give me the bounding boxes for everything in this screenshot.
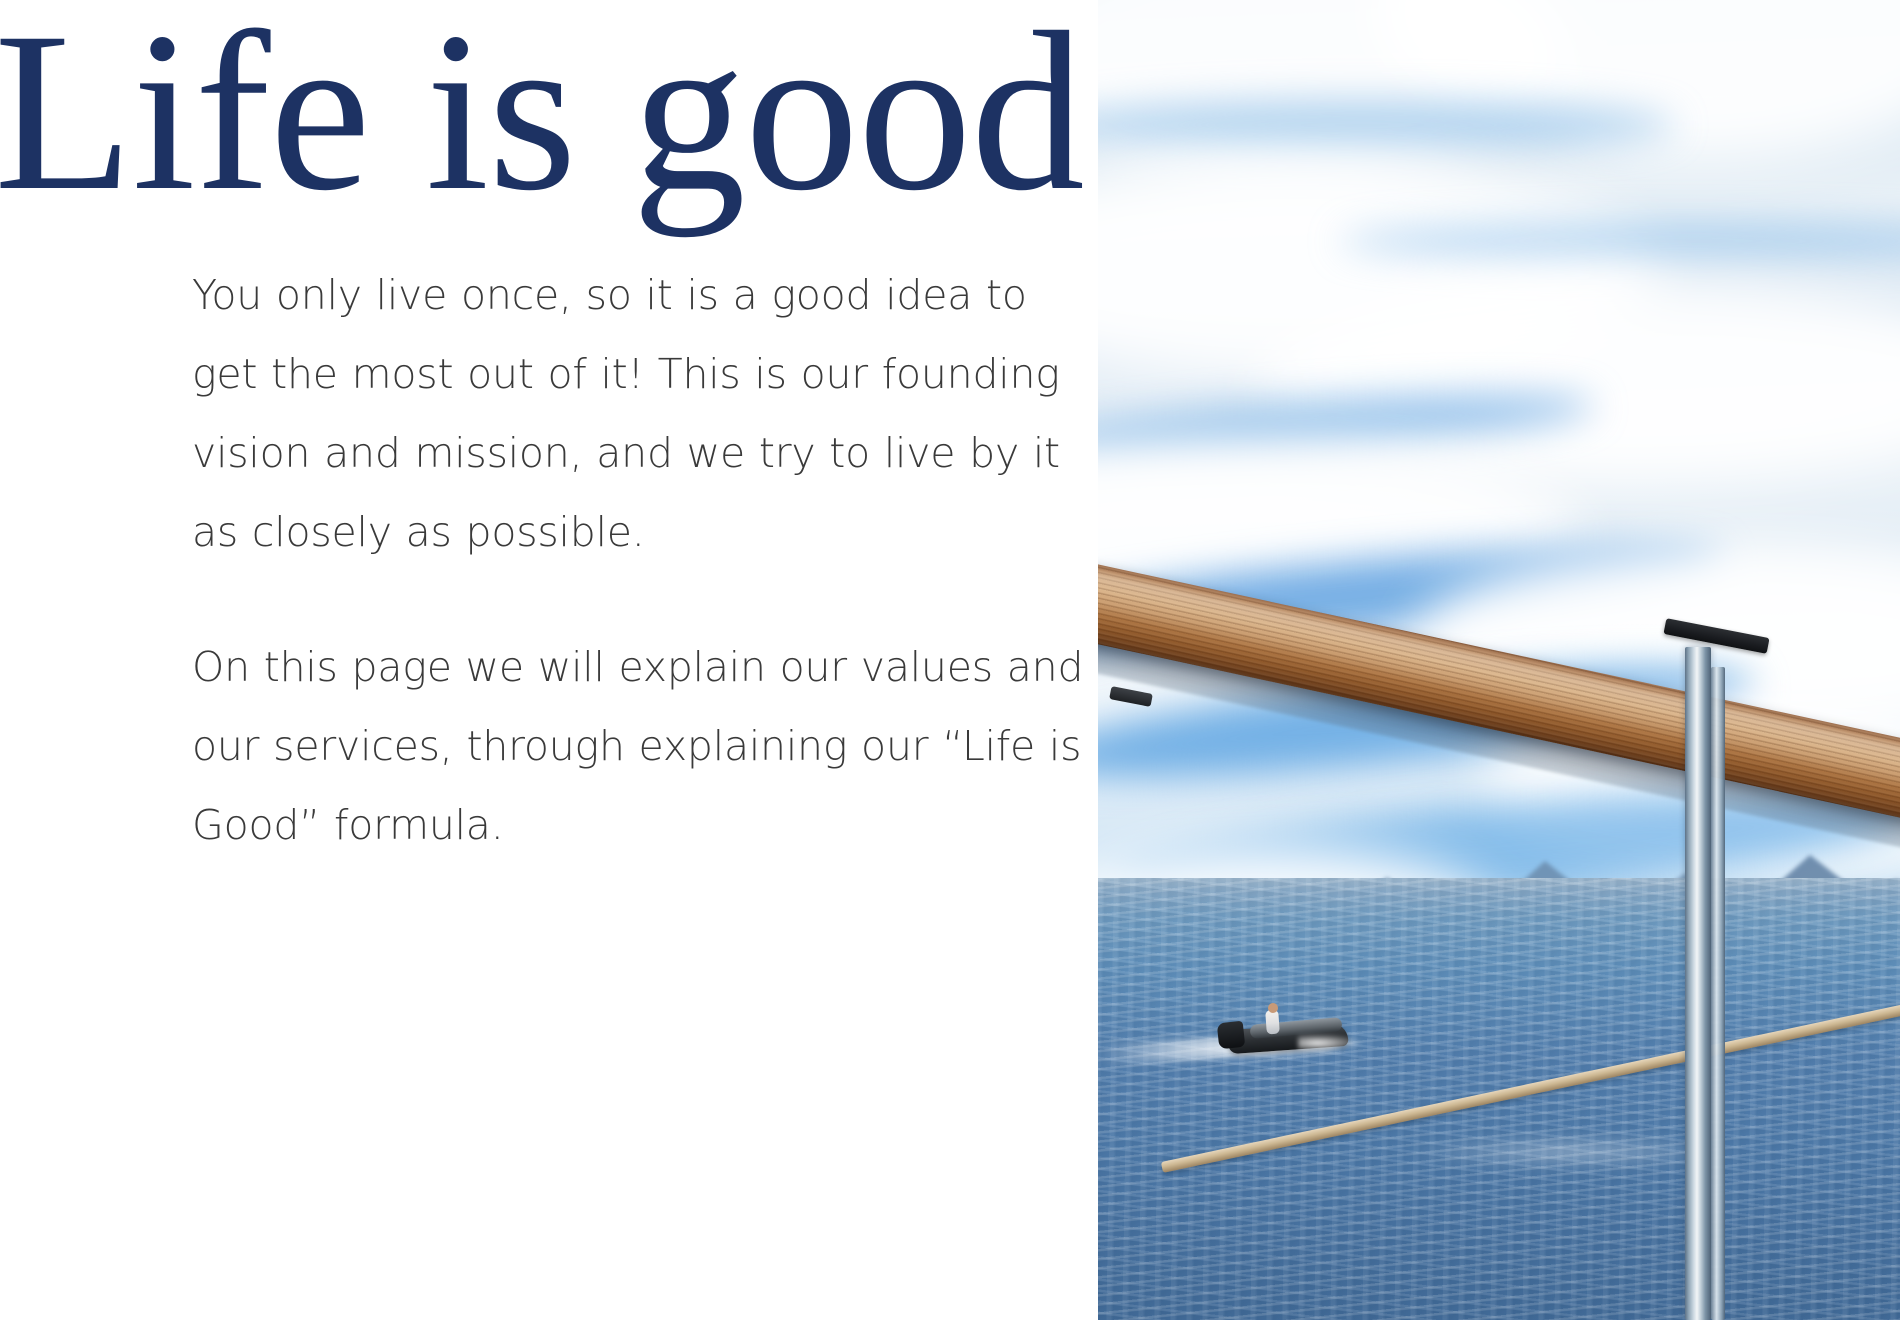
page-title: Life is good	[0, 0, 1098, 234]
hero-photo	[1098, 0, 1900, 1320]
cloud-shape	[1258, 281, 1900, 482]
cloud-streak	[1098, 381, 1596, 471]
rib-dinghy	[1210, 1006, 1360, 1060]
chrome-stanchion-secondary	[1711, 667, 1725, 1320]
cloud-streak	[1098, 100, 1675, 150]
chrome-stanchion	[1685, 647, 1711, 1320]
cloud-streak	[1339, 221, 1900, 261]
intro-paragraph-1: You only live once, so it is a good idea…	[192, 256, 1092, 572]
dinghy-driver-body	[1265, 1009, 1280, 1034]
intro-copy: You only live once, so it is a good idea…	[192, 256, 1092, 865]
cloud-shape	[1098, 161, 1659, 382]
outboard-engine	[1217, 1021, 1246, 1050]
text-column: Life is good You only live once, so it i…	[0, 0, 1098, 1320]
intro-paragraph-2: On this page we will explain our values …	[192, 628, 1092, 865]
hero-section: Life is good You only live once, so it i…	[0, 0, 1900, 1320]
yacht-sea-photo	[1098, 0, 1900, 1320]
water-spray	[1298, 1034, 1364, 1052]
cloud-shape	[1098, 0, 1563, 181]
